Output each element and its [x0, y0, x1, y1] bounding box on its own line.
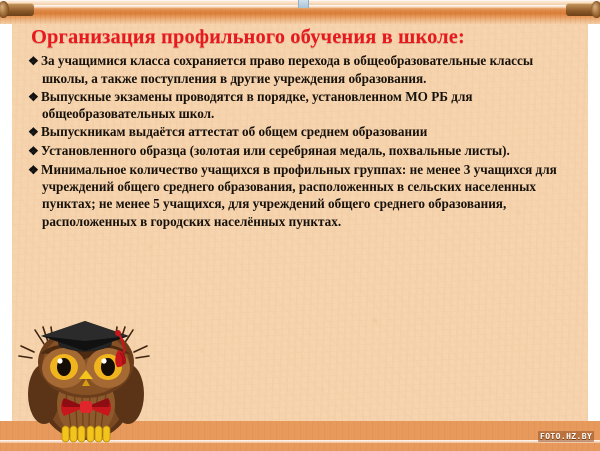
bullet-glyph-icon: ❖ [28, 125, 41, 141]
scroll-rod-right-cap [591, 1, 600, 18]
list-item-text: Выпускные экзамены проводятся в порядке,… [41, 89, 473, 122]
slide-content: Организация профильного обучения в школе… [28, 26, 573, 231]
bullet-list: ❖За учащимися класса сохраняется право п… [28, 52, 573, 230]
owl-graduate-icon [14, 308, 158, 443]
watermark: FOTO.HZ.BY [538, 431, 594, 442]
list-item: ❖Установленного образца (золотая или сер… [28, 142, 573, 160]
scroll-rod-left [0, 1, 34, 18]
bullet-glyph-icon: ❖ [28, 54, 41, 70]
scroll-rod-right [566, 1, 600, 18]
bullet-glyph-icon: ❖ [28, 163, 41, 179]
page-title: Организация профильного обучения в школе… [31, 26, 573, 49]
list-item: ❖Выпускные экзамены проводятся в порядке… [28, 88, 573, 123]
list-item-text: Установленного образца (золотая или сере… [41, 143, 510, 158]
list-item-text: За учащимися класса сохраняется право пе… [41, 53, 533, 86]
list-item: ❖Минимальное количество учащихся в профи… [28, 161, 573, 230]
list-item: ❖Выпускникам выдаётся аттестат об общем … [28, 123, 573, 141]
list-item-text: Выпускникам выдаётся аттестат об общем с… [41, 124, 427, 139]
list-item: ❖За учащимися класса сохраняется право п… [28, 52, 573, 87]
bullet-glyph-icon: ❖ [28, 90, 41, 106]
slide-canvas: Организация профильного обучения в школе… [0, 0, 600, 451]
list-item-text: Минимальное количество учащихся в профил… [41, 162, 557, 229]
bullet-glyph-icon: ❖ [28, 144, 41, 160]
top-center-tab [298, 0, 309, 8]
scroll-top-texture [0, 10, 600, 24]
